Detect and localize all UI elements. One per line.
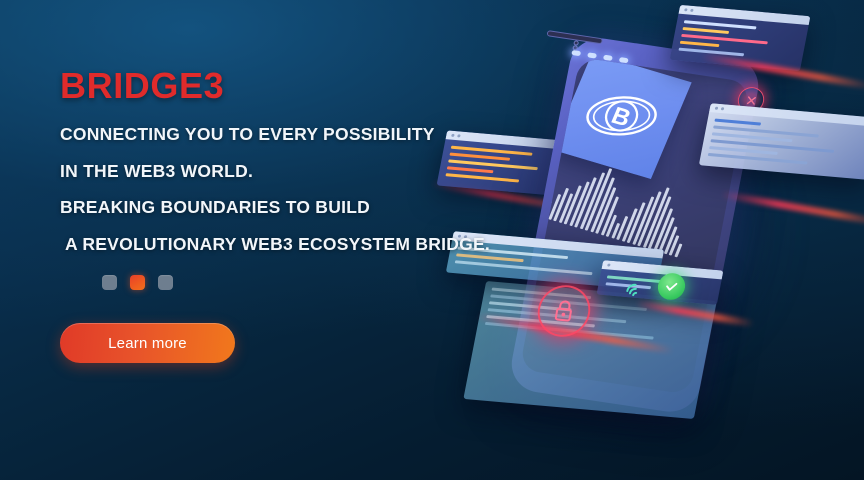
tagline-line-2: IN THE WEB3 WORLD. [60, 163, 580, 181]
panel-text-line [680, 41, 720, 47]
bridge3-logo-icon: B [569, 69, 674, 164]
hero-text-column: BRIDGE3 CONNECTING YOU TO EVERY POSSIBIL… [60, 68, 580, 363]
hero-banner: BRIDGE3 CONNECTING YOU TO EVERY POSSIBIL… [0, 0, 864, 480]
panel-dot-icon [607, 263, 611, 266]
tagline-line-1: CONNECTING YOU TO EVERY POSSIBILITY [60, 126, 580, 144]
panel-text-line [708, 153, 807, 165]
panel-dot-icon [721, 107, 725, 110]
carousel-dot-1[interactable] [102, 275, 117, 290]
tagline-block: CONNECTING YOU TO EVERY POSSIBILITY IN T… [60, 126, 580, 253]
panel-dot-icon [715, 107, 719, 110]
tagline-line-4: A REVOLUTIONARY WEB3 ECOSYSTEM BRIDGE. [60, 236, 580, 254]
carousel-dot-3[interactable] [158, 275, 173, 290]
page-title: BRIDGE3 [60, 68, 580, 104]
panel-text-line [682, 27, 729, 34]
carousel-dot-2-active[interactable] [130, 275, 145, 290]
light-dot-icon [571, 50, 581, 56]
carousel-indicator [102, 275, 580, 290]
light-dot-icon [587, 52, 597, 58]
check-glyph [663, 278, 681, 294]
panel-dot-icon [684, 8, 688, 11]
panel-text-line [714, 119, 761, 126]
alert-glyph [743, 93, 758, 107]
learn-more-button[interactable]: Learn more [60, 323, 235, 363]
panel-dot-icon [690, 9, 694, 12]
wifi-icon [623, 277, 650, 299]
tagline-line-3: BREAKING BOUNDARIES TO BUILD [60, 199, 580, 217]
